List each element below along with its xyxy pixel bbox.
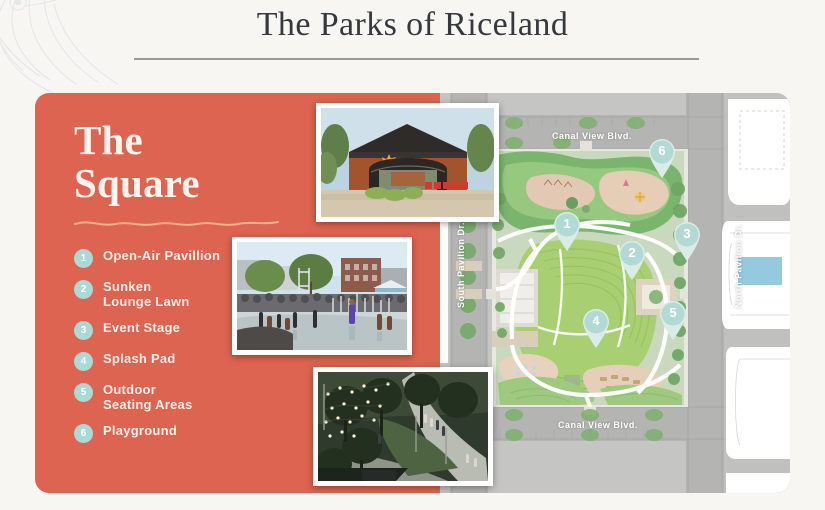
legend-item-label: Event Stage (103, 320, 180, 335)
map-pin-6[interactable]: 6 (647, 138, 677, 179)
map-pin-1[interactable]: 1 (552, 211, 582, 252)
map-pin-3[interactable]: 3 (672, 221, 702, 262)
legend-item-5[interactable]: 5 Outdoor Seating Areas (74, 382, 314, 412)
page-title: The Parks of Riceland (0, 2, 825, 48)
legend-number-badge: 2 (74, 280, 93, 299)
map-pin-number: 5 (658, 305, 688, 321)
map-pin-4[interactable]: 4 (581, 308, 611, 349)
photo-frame: PAVILION (321, 108, 494, 217)
legend-item-label: Open-Air Pavillion (103, 248, 220, 263)
legend-number-badge: 1 (74, 249, 93, 268)
photo-image (237, 242, 407, 350)
legend-number-badge: 5 (74, 383, 93, 402)
legend-number-badge: 3 (74, 321, 93, 340)
legend-item-label: Outdoor Seating Areas (103, 382, 192, 412)
photo-frame (237, 242, 407, 350)
content-panel: The Square 1 Open-Air Pavillion 2 Sunken… (35, 93, 790, 493)
map-pin-5[interactable]: 5 (658, 300, 688, 341)
section-title: The Square (74, 119, 314, 205)
photo-frame (318, 372, 488, 481)
map-pin-number: 3 (672, 226, 702, 242)
street-label-canal-view-north: Canal View Blvd. (552, 131, 632, 141)
legend-number-badge: 6 (74, 424, 93, 443)
section-title-line1: The (74, 119, 314, 162)
map-pin-number: 4 (581, 313, 611, 329)
legend-number-badge: 4 (74, 352, 93, 371)
photo-image (318, 372, 488, 481)
street-label-north-pavilion: North Pavilion Dr. (733, 224, 743, 309)
map-pin-number: 1 (552, 216, 582, 232)
wave-divider-icon (74, 217, 279, 229)
legend-item-label: Playground (103, 423, 177, 438)
legend-item-6[interactable]: 6 Playground (74, 423, 314, 443)
slide-root: The Parks of Riceland The Square 1 Open-… (0, 0, 825, 510)
photo-open-air-pavilion[interactable]: PAVILION (316, 103, 499, 222)
photo-image: PAVILION (321, 108, 494, 217)
street-label-canal-view-south: Canal View Blvd. (558, 420, 638, 430)
map-pin-2[interactable]: 2 (617, 240, 647, 281)
map-pin-number: 6 (647, 143, 677, 159)
header-divider (134, 58, 699, 60)
map-pin-number: 2 (617, 245, 647, 261)
photo-evening-promenade[interactable] (313, 367, 493, 486)
photo-splash-pad[interactable] (232, 237, 412, 355)
section-title-line2: Square (74, 162, 314, 205)
legend-item-label: Sunken Lounge Lawn (103, 279, 190, 309)
legend-item-label: Splash Pad (103, 351, 176, 366)
street-label-south-pavilion: South Pavilion Dr. (456, 222, 466, 308)
